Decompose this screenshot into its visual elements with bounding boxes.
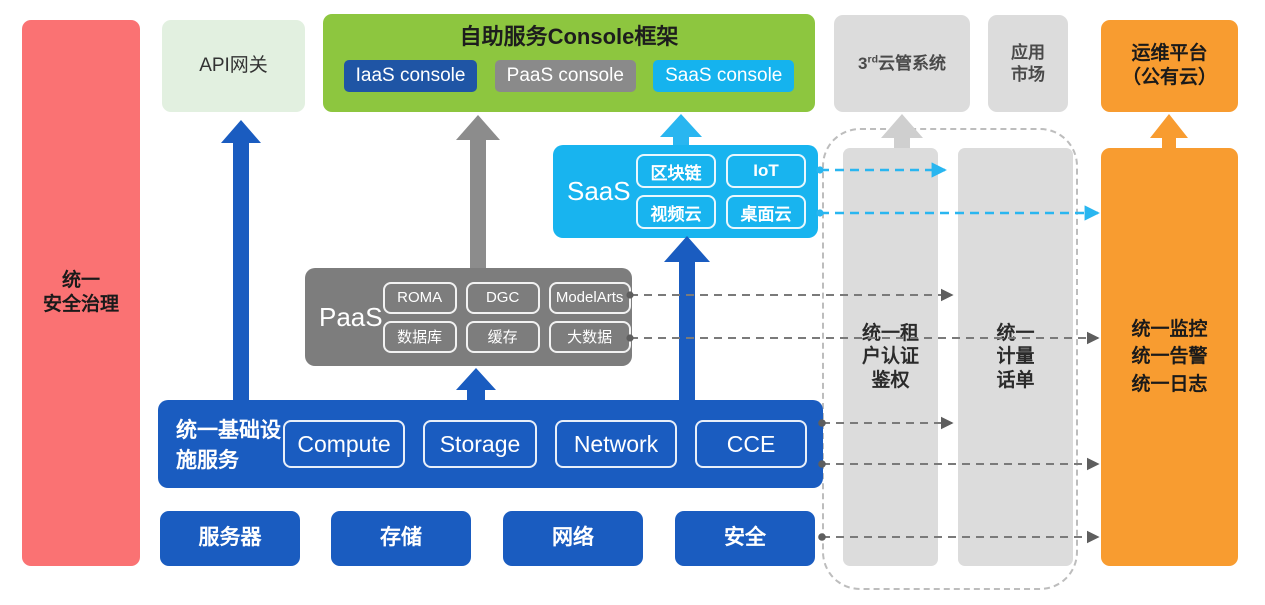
unified-tenant-auth-label: 统一租 户认证 鉴权	[862, 322, 919, 392]
ops-monitor-label: 统一监控 统一告警 统一日志	[1131, 316, 1207, 399]
ops-platform-label: 运维平台 （公有云）	[1122, 42, 1217, 90]
ops-monitor-panel[interactable]: 统一监控 统一告警 统一日志	[1101, 148, 1238, 566]
unified-infrastructure-box[interactable]: 统一基础设施服务 Compute Storage Network CCE	[158, 400, 823, 488]
saas-box[interactable]: SaaS 区块链 IoT 视频云 桌面云	[553, 145, 818, 238]
unified-tenant-auth-column[interactable]: 统一租 户认证 鉴权	[843, 148, 938, 566]
paas-item-cache[interactable]: 缓存	[466, 321, 540, 353]
self-service-console-panel[interactable]: 自助服务Console框架 IaaS console PaaS console …	[323, 14, 815, 112]
paas-item-database[interactable]: 数据库	[383, 321, 457, 353]
saas-item-video-cloud[interactable]: 视频云	[636, 195, 716, 229]
resource-label-security: 安全	[724, 525, 766, 551]
app-market-label: 应用 市场	[1011, 42, 1045, 85]
iaas-console-chip[interactable]: IaaS console	[344, 60, 478, 92]
api-gateway-label: API网关	[199, 54, 268, 78]
unified-infrastructure-label: 统一基础设施服务	[176, 414, 283, 474]
infra-item-cce[interactable]: CCE	[695, 420, 807, 468]
console-title: 自助服务Console框架	[323, 14, 815, 60]
paas-item-modelarts[interactable]: ModelArts	[549, 282, 631, 314]
third-party-cloud-mgmt-label: 3rd云管系统	[858, 53, 946, 74]
saas-console-chip[interactable]: SaaS console	[653, 60, 794, 92]
infra-item-network[interactable]: Network	[555, 420, 677, 468]
resource-box-security[interactable]: 安全	[675, 511, 815, 566]
unified-security-governance-label: 统一 安全治理	[43, 269, 119, 317]
resource-label-server: 服务器	[199, 525, 262, 551]
unified-metering-label: 统一 计量 话单	[996, 322, 1034, 392]
paas-item-dgc[interactable]: DGC	[466, 282, 540, 314]
resource-box-server[interactable]: 服务器	[160, 511, 300, 566]
saas-item-iot[interactable]: IoT	[726, 154, 806, 188]
saas-item-blockchain[interactable]: 区块链	[636, 154, 716, 188]
arrow-ops-platform-up	[1150, 114, 1188, 148]
arrow-apigw-from-infra	[221, 120, 261, 400]
app-market-box[interactable]: 应用 市场	[988, 15, 1068, 112]
paas-item-roma[interactable]: ROMA	[383, 282, 457, 314]
saas-item-desktop-cloud[interactable]: 桌面云	[726, 195, 806, 229]
paas-label: PaaS	[319, 302, 383, 333]
paas-box[interactable]: PaaS ROMA DGC ModelArts 数据库 缓存 大数据	[305, 268, 632, 366]
resource-label-storage: 存储	[380, 525, 422, 551]
arrow-saas-console-from-saas	[660, 114, 702, 145]
saas-label: SaaS	[567, 176, 636, 207]
api-gateway-box[interactable]: API网关	[162, 20, 305, 112]
arrow-saas-from-infra	[664, 236, 710, 400]
unified-metering-column[interactable]: 统一 计量 话单	[958, 148, 1073, 566]
unified-security-governance-panel[interactable]: 统一 安全治理	[22, 20, 140, 566]
paas-console-chip[interactable]: PaaS console	[495, 60, 636, 92]
resource-box-storage[interactable]: 存储	[331, 511, 471, 566]
arrow-console-from-paas	[456, 115, 500, 268]
ops-platform-box[interactable]: 运维平台 （公有云）	[1101, 20, 1238, 112]
infra-item-compute[interactable]: Compute	[283, 420, 405, 468]
paas-item-bigdata[interactable]: 大数据	[549, 321, 631, 353]
third-party-cloud-mgmt-box[interactable]: 3rd云管系统	[834, 15, 970, 112]
resource-box-network[interactable]: 网络	[503, 511, 643, 566]
resource-label-network: 网络	[552, 525, 594, 551]
infra-item-storage[interactable]: Storage	[423, 420, 537, 468]
arrow-paas-from-infra	[456, 368, 496, 400]
